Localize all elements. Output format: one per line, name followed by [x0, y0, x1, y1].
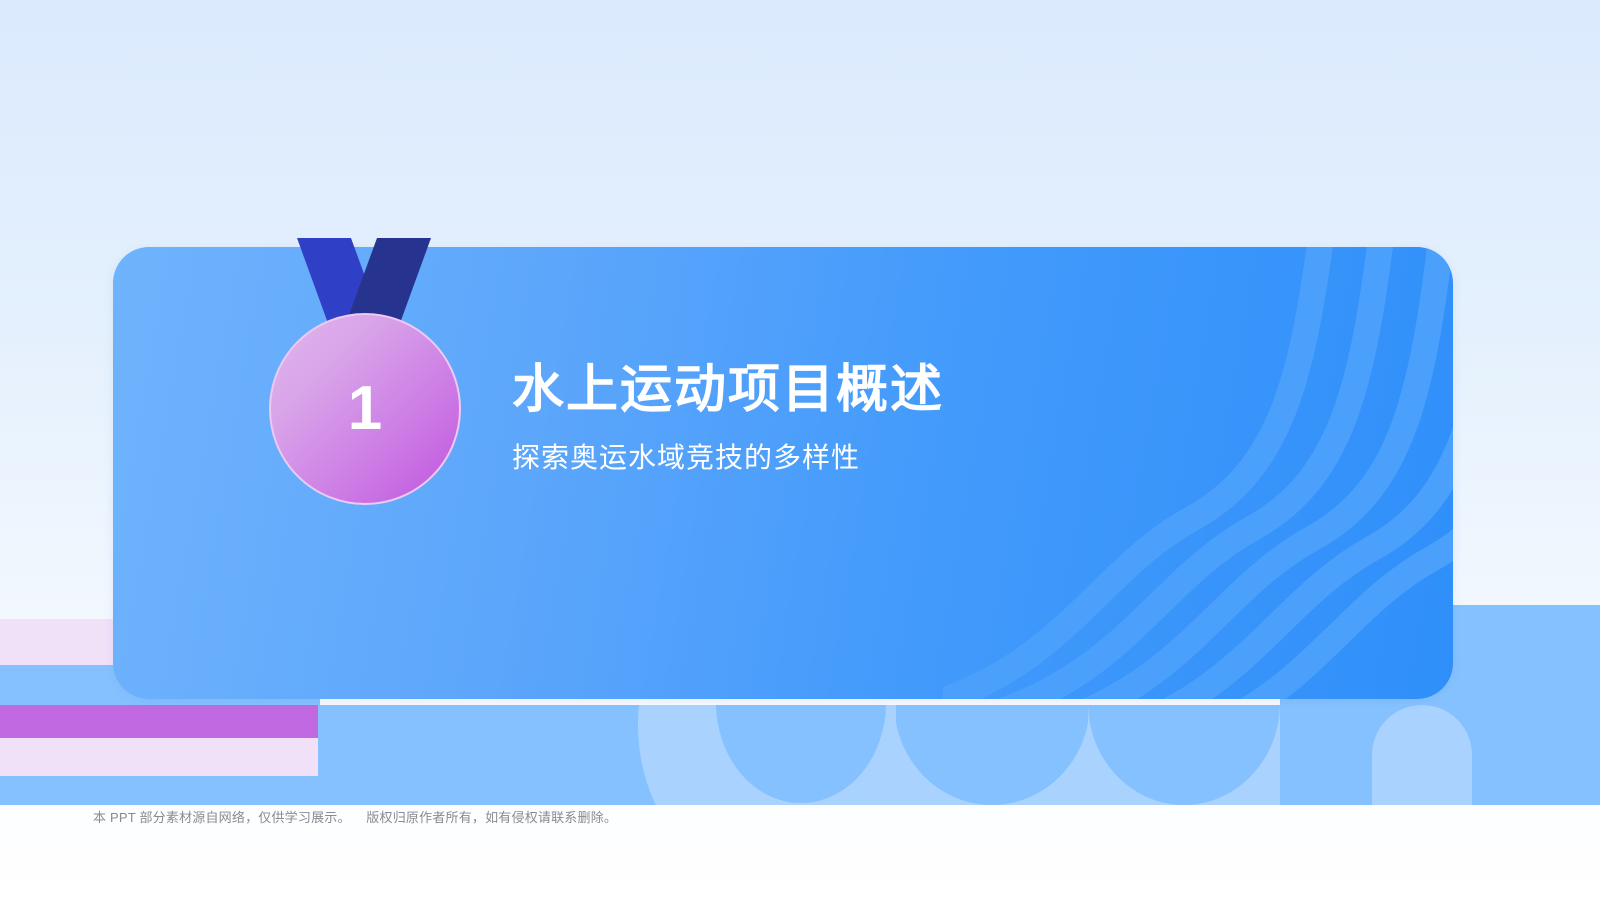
medal-disc: 1	[269, 313, 461, 505]
decorative-panel-row	[0, 705, 1600, 805]
footer-text-part1: 本 PPT 部分素材源自网络，仅供学习展示。	[93, 810, 351, 825]
slide-root: 1 水上运动项目概述 探索奥运水域竞技的多样性 本 PPT 部分素材源自网络，仅…	[0, 0, 1600, 900]
panel-arc-a	[318, 705, 508, 805]
section-number: 1	[348, 378, 382, 440]
footer-text-part2: 版权归原作者所有，如有侵权请联系删除。	[366, 810, 617, 825]
medal-badge: 1	[265, 238, 465, 513]
page-title: 水上运动项目概述	[512, 362, 1272, 419]
panel-arc-c	[704, 705, 896, 805]
footer-disclaimer: 本 PPT 部分素材源自网络，仅供学习展示。 版权归原作者所有，如有侵权请联系删…	[93, 807, 617, 826]
arch-shape	[1372, 705, 1472, 805]
panel-arc-b	[508, 705, 704, 805]
title-text-block: 水上运动项目概述 探索奥运水域竞技的多样性	[512, 362, 1272, 475]
panel-arc-e	[1088, 705, 1280, 805]
page-subtitle: 探索奥运水域竞技的多样性	[512, 441, 1272, 475]
panel-arc-d	[896, 705, 1088, 805]
